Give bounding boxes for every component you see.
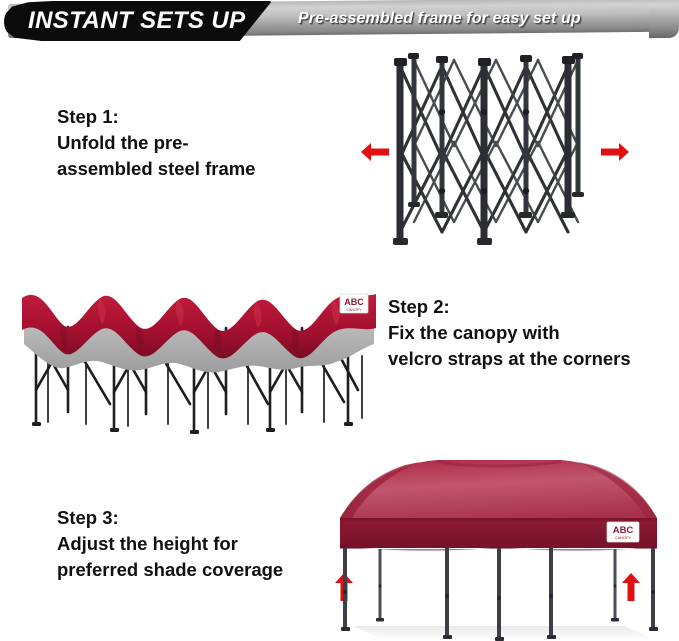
- banner-title: INSTANT SETS UP: [28, 7, 246, 35]
- step-2-line-2: velcro straps at the corners: [388, 346, 631, 372]
- step-1-line-2: assembled steel frame: [57, 156, 255, 182]
- step-3-line-2: preferred shade coverage: [57, 557, 283, 583]
- step-3-line-1: Adjust the height for: [57, 531, 283, 557]
- svg-text:CANOPY: CANOPY: [346, 308, 362, 312]
- step-1-text-block: Step 1: Unfold the pre- assembled steel …: [57, 104, 255, 182]
- svg-text:ABC: ABC: [613, 525, 634, 536]
- step-1-line-1: Unfold the pre-: [57, 130, 255, 156]
- svg-text:ABC: ABC: [344, 297, 364, 307]
- step-3-heading: Step 3:: [57, 505, 283, 531]
- step-2-heading: Step 2:: [388, 294, 631, 320]
- step-1-heading: Step 1:: [57, 104, 255, 130]
- step-3-text-block: Step 3: Adjust the height for preferred …: [57, 505, 283, 583]
- folding-steel-frame-illustration: [380, 46, 595, 261]
- banner-bar-tail: [649, 4, 679, 38]
- banner-subtitle: Pre-assembled frame for easy set up: [298, 10, 581, 28]
- brand-label-patch-step2: ABC CANOPY: [340, 294, 368, 313]
- header-banner: INSTANT SETS UP Pre-assembled frame for …: [0, 0, 679, 48]
- step-2-line-1: Fix the canopy with: [388, 320, 631, 346]
- brand-label-patch-step3: ABC CANOPY: [607, 522, 639, 542]
- step-2-text-block: Step 2: Fix the canopy with velcro strap…: [388, 294, 631, 372]
- canopy-draped-illustration: ABC CANOPY: [18, 272, 388, 444]
- svg-text:CANOPY: CANOPY: [615, 536, 632, 540]
- assembled-canopy-illustration: ABC CANOPY: [325, 448, 675, 641]
